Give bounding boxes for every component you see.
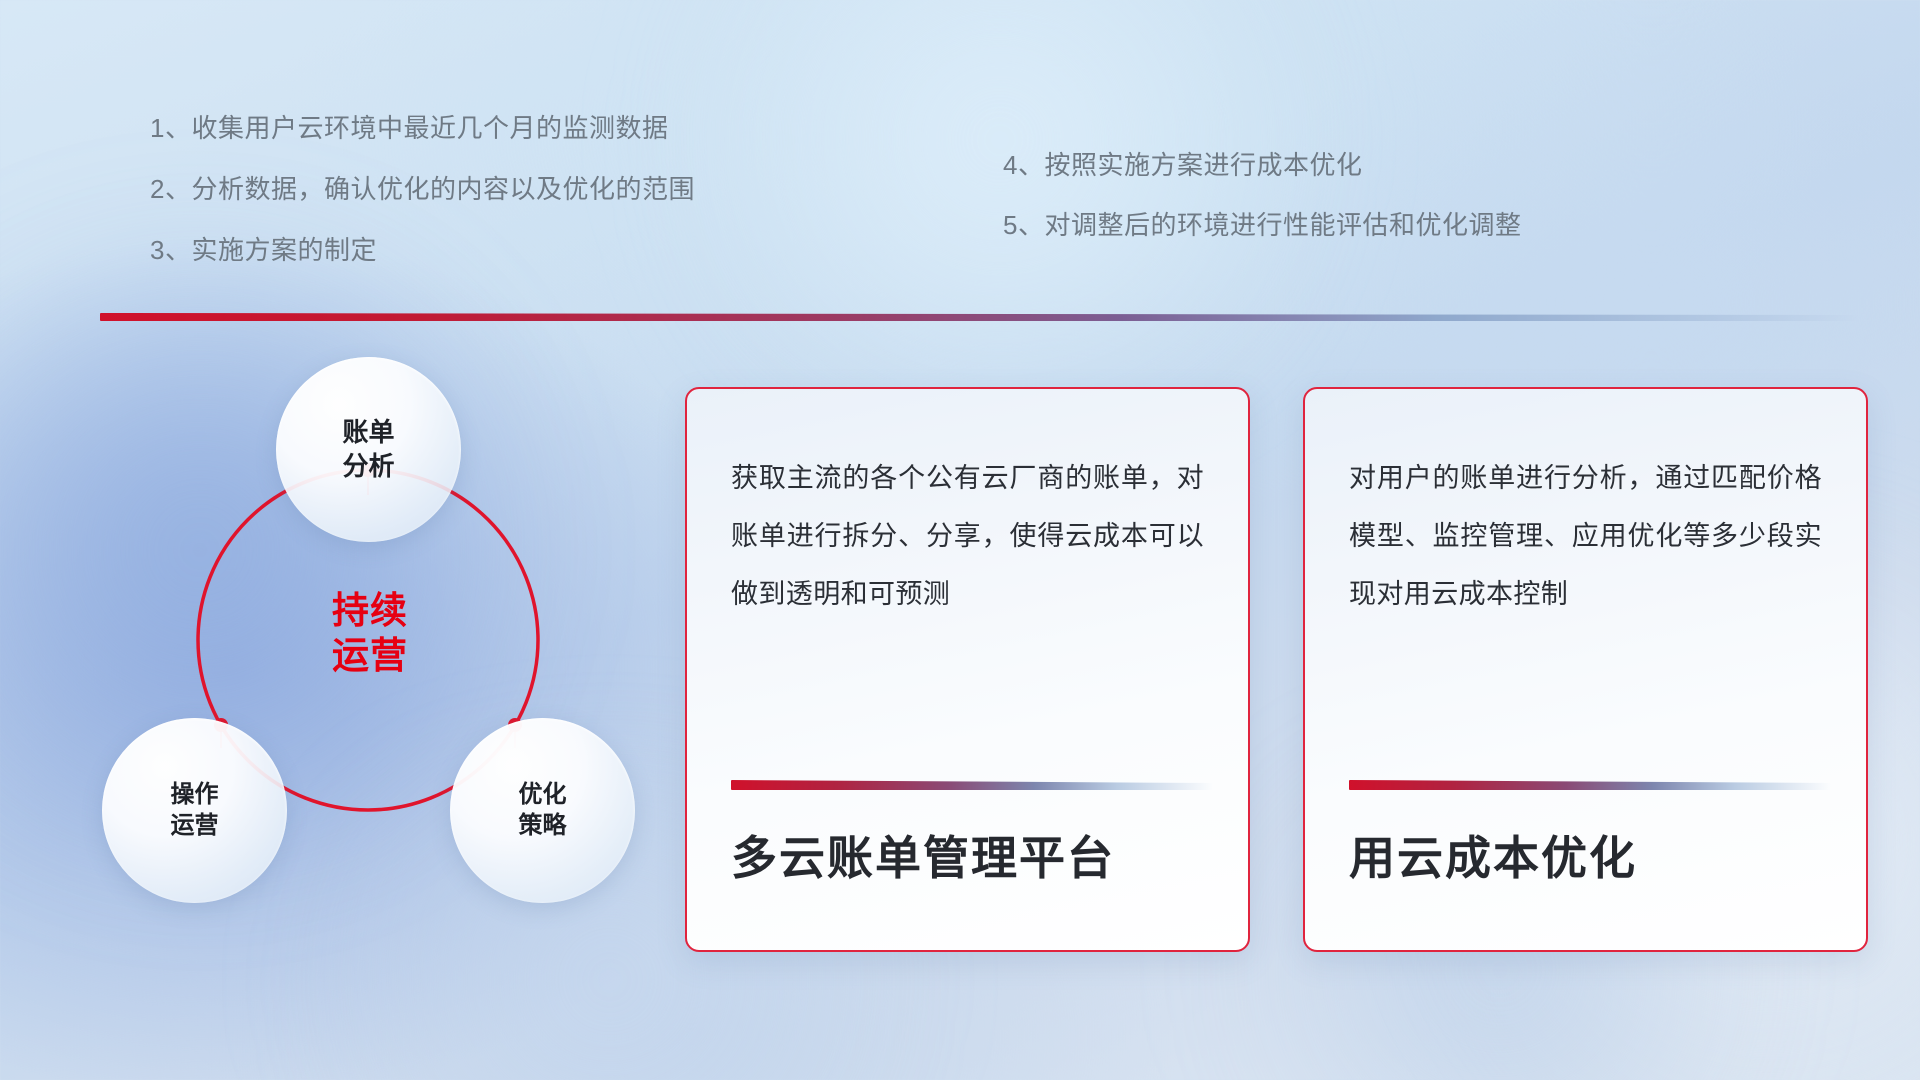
step-item-4: 4、按照实施方案进行成本优化 [1003,152,1521,178]
card-divider-rule [1349,780,1831,790]
card-body-text: 对用户的账单进行分析，通过匹配价格模型、监控管理、应用优化等多少段实现对用云成本… [1349,449,1822,623]
step-item-2: 2、分析数据，确认优化的内容以及优化的范围 [150,176,695,202]
venn-center-line1: 持续 [332,588,408,633]
venn-bubble-operations[interactable]: 操作 运营 [102,718,287,903]
venn-diagram: 账单 分析 操作 运营 优化 策略 持续 运营 [100,355,645,940]
header-divider-rule [100,313,1860,321]
venn-bubble-top-line2: 分析 [342,450,394,483]
content-card-billing-platform[interactable]: 获取主流的各个公有云厂商的账单，对账单进行拆分、分享，使得云成本可以做到透明和可… [685,387,1250,952]
venn-center-line2: 运营 [332,633,408,678]
card-title: 用云成本优化 [1349,822,1637,888]
card-body-text: 获取主流的各个公有云厂商的账单，对账单进行拆分、分享，使得云成本可以做到透明和可… [731,449,1204,623]
venn-bubble-bl-line1: 操作 [171,780,219,811]
card-title: 多云账单管理平台 [731,822,1115,888]
step-item-3: 3、实施方案的制定 [150,237,695,263]
venn-bubble-bl-line2: 运营 [171,811,219,842]
content-card-cost-optimization[interactable]: 对用户的账单进行分析，通过匹配价格模型、监控管理、应用优化等多少段实现对用云成本… [1303,387,1868,952]
venn-center-label: 持续 运营 [280,573,460,693]
step-item-5: 5、对调整后的环境进行性能评估和优化调整 [1003,212,1521,238]
venn-bubble-optimization-strategy[interactable]: 优化 策略 [450,718,635,903]
venn-bubble-br-line2: 策略 [519,811,567,842]
venn-bubble-br-line1: 优化 [519,780,567,811]
venn-bubble-billing-analysis[interactable]: 账单 分析 [276,357,461,542]
step-item-1: 1、收集用户云环境中最近几个月的监测数据 [150,115,695,141]
steps-list-left: 1、收集用户云环境中最近几个月的监测数据 2、分析数据，确认优化的内容以及优化的… [150,115,695,298]
steps-list-right: 4、按照实施方案进行成本优化 5、对调整后的环境进行性能评估和优化调整 [1003,152,1521,272]
venn-bubble-top-line1: 账单 [342,416,394,449]
card-divider-rule [731,780,1213,790]
